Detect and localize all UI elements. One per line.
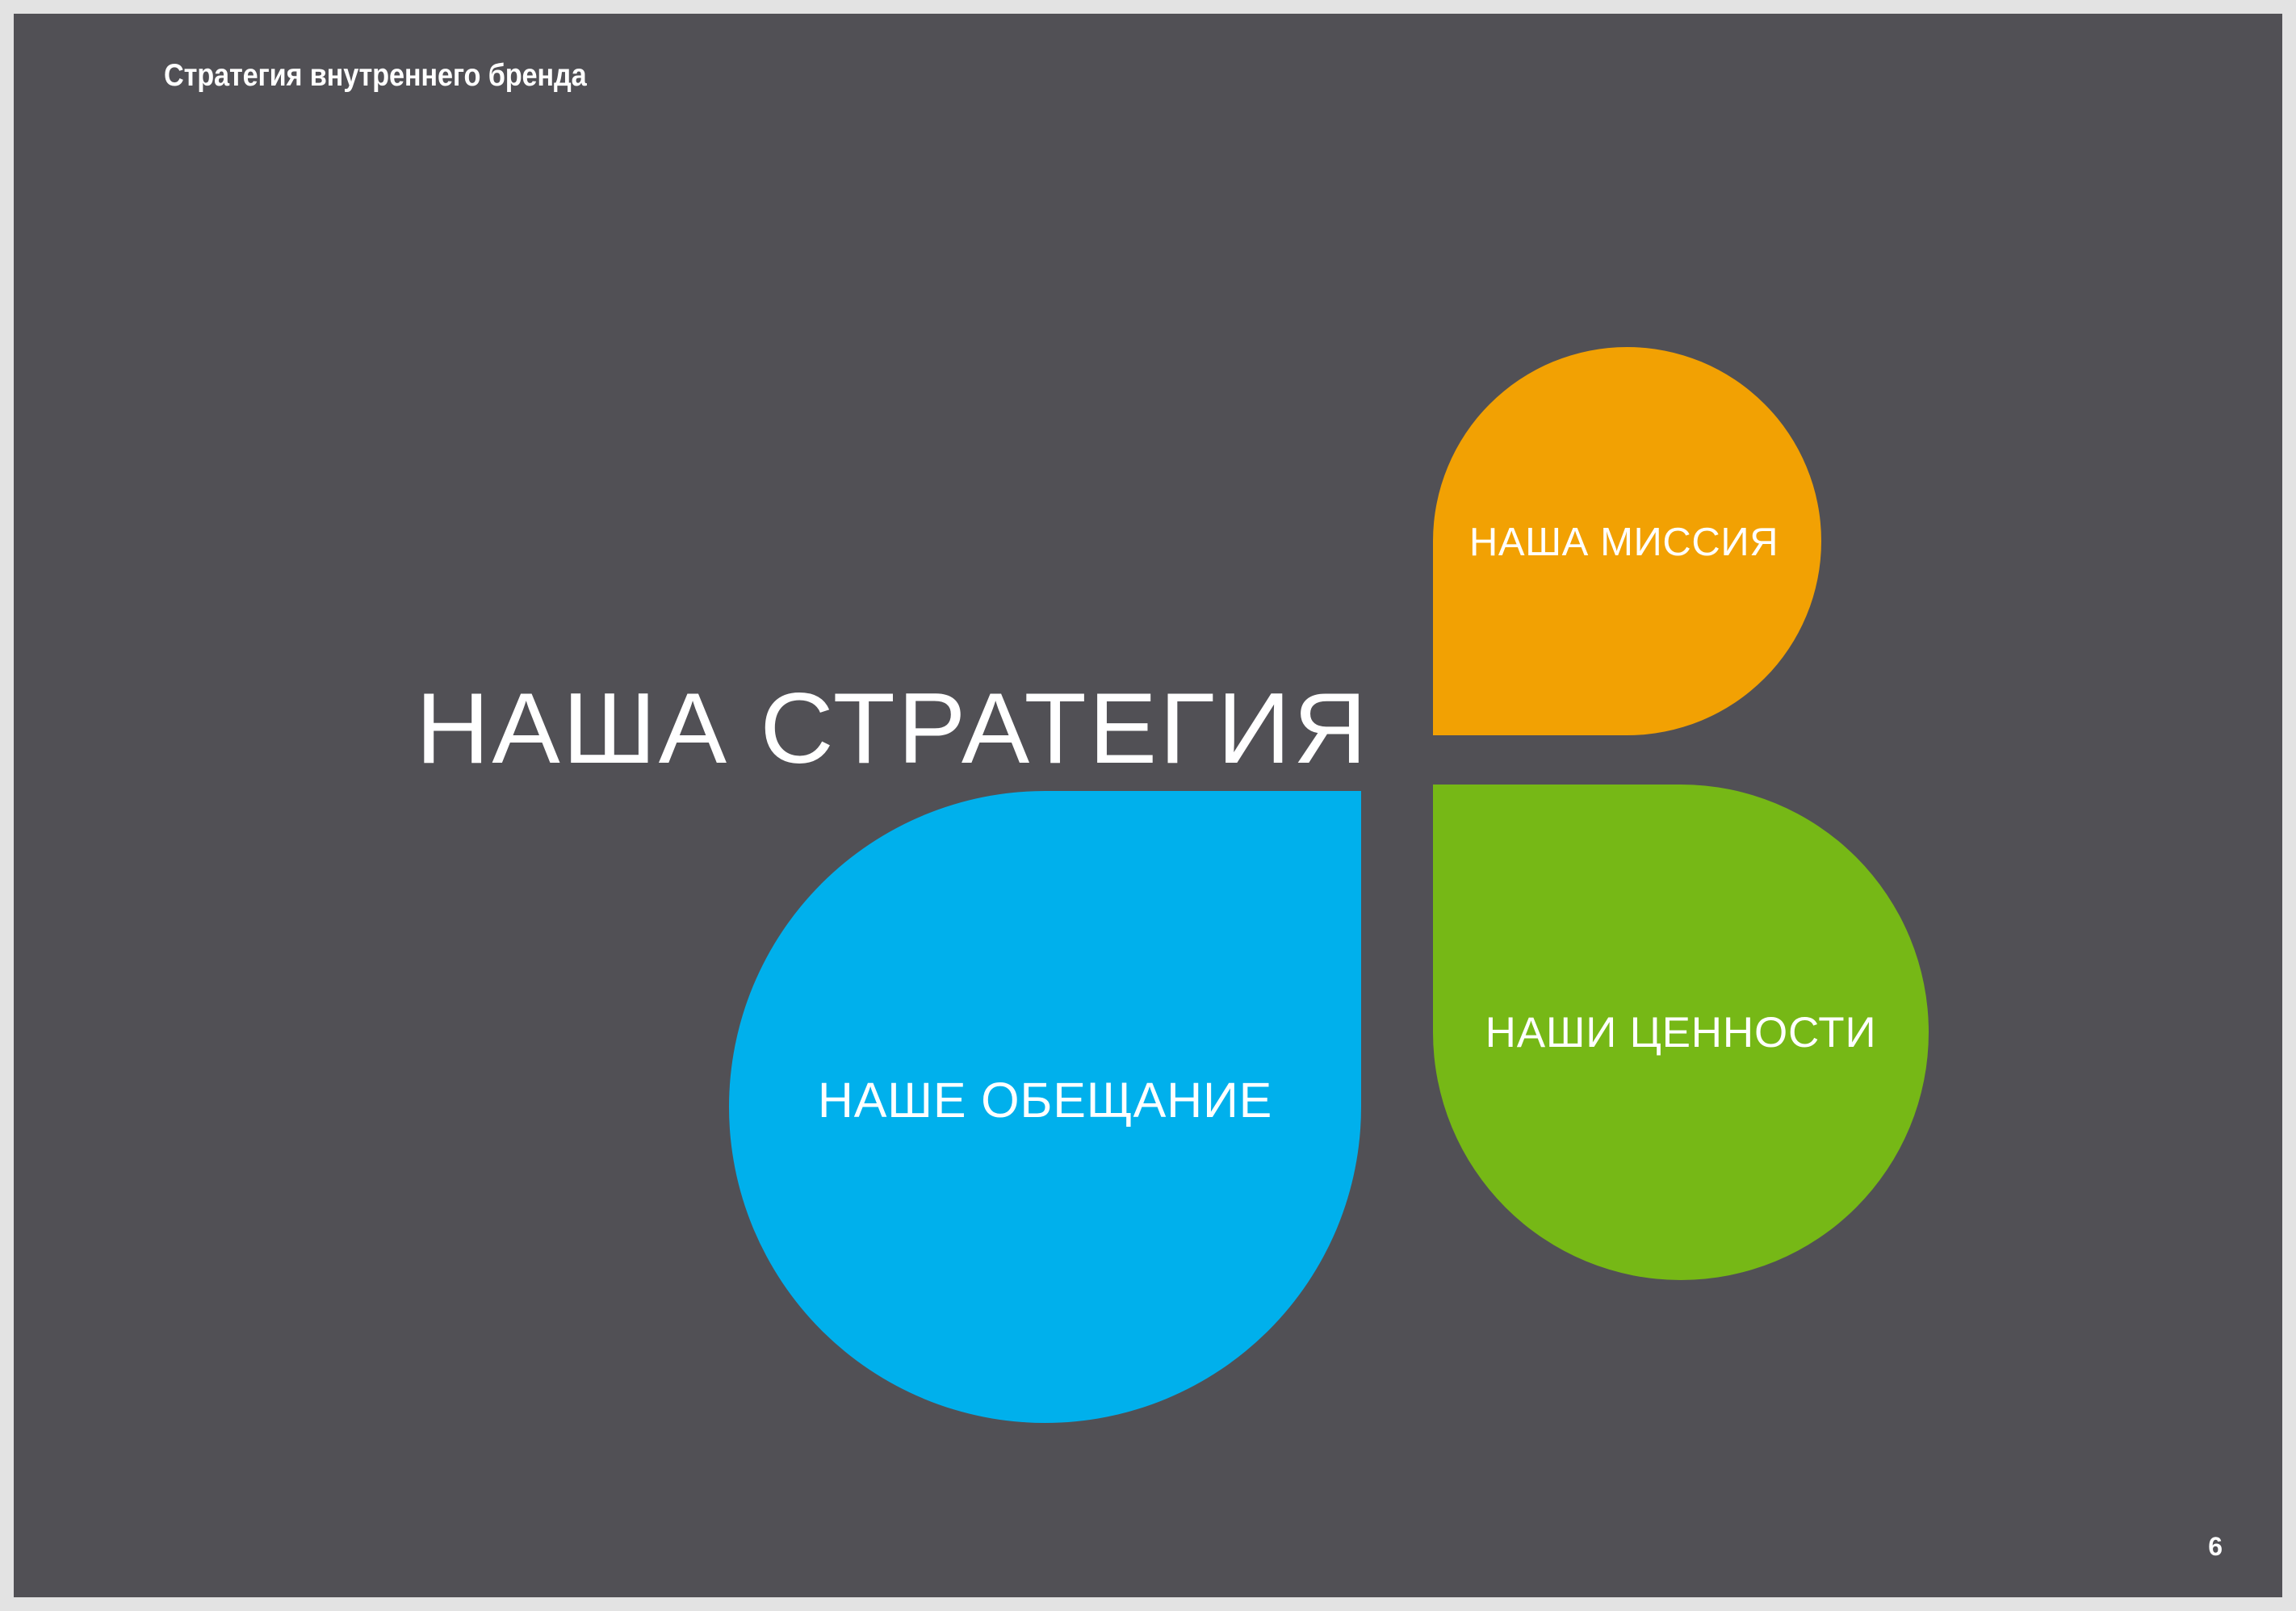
- petal-label-our-mission: НАША МИССИЯ: [1469, 523, 1779, 563]
- page-number: 6: [2208, 1532, 2223, 1562]
- petal-label-our-promise: НАШЕ ОБЕЩАНИЕ: [818, 1076, 1272, 1125]
- slide-canvas: Стратегия внутреннего бренда НАША СТРАТЕ…: [14, 14, 2282, 1597]
- petal-our-promise[interactable]: НАШЕ ОБЕЩАНИЕ: [729, 791, 1361, 1423]
- petal-label-our-values: НАШИ ЦЕННОСТИ: [1485, 1011, 1877, 1054]
- slide-header-title: Стратегия внутреннего бренда: [164, 58, 587, 94]
- page-title: НАША СТРАТЕГИЯ: [416, 679, 1369, 779]
- petal-our-mission[interactable]: НАША МИССИЯ: [1433, 347, 1821, 735]
- slide-outer-frame: Стратегия внутреннего бренда НАША СТРАТЕ…: [0, 0, 2296, 1611]
- petal-our-values[interactable]: НАШИ ЦЕННОСТИ: [1433, 785, 1929, 1280]
